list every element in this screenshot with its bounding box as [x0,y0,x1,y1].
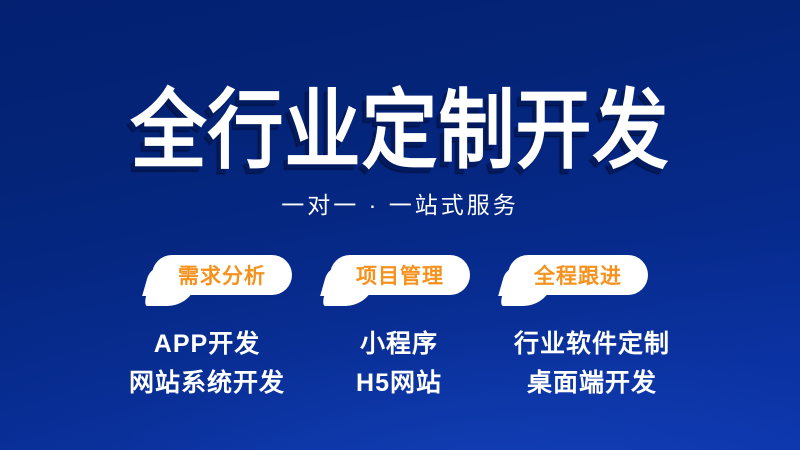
service-columns: APP开发 网站系统开发 小程序 H5网站 行业软件定制 桌面端开发 [0,331,800,397]
badge-row: 需求分析 项目管理 全程跟进 [152,255,648,295]
service-item[interactable]: 行业软件定制 [514,331,670,357]
service-column-2: 小程序 H5网站 [311,331,487,397]
badge-project-management[interactable]: 项目管理 [330,255,470,295]
service-item[interactable]: APP开发 [154,331,260,357]
service-item[interactable]: 网站系统开发 [129,370,285,396]
badge-label: 项目管理 [356,260,444,290]
service-column-3: 行业软件定制 桌面端开发 [487,331,697,397]
service-column-1: APP开发 网站系统开发 [103,331,311,397]
service-item[interactable]: 桌面端开发 [527,370,657,396]
badge-label: 全程跟进 [534,260,622,290]
badge-label: 需求分析 [178,260,266,290]
badge-requirement-analysis[interactable]: 需求分析 [152,255,292,295]
page-title: 全行业定制开发 [131,88,670,175]
page-subtitle: 一对一 · 一站式服务 [281,194,518,217]
service-item[interactable]: H5网站 [356,370,442,396]
badge-full-process-tracking[interactable]: 全程跟进 [508,255,648,295]
promo-banner: 全行业定制开发 一对一 · 一站式服务 需求分析 项目管理 全程跟进 APP开发… [0,0,800,450]
service-item[interactable]: 小程序 [360,331,438,357]
